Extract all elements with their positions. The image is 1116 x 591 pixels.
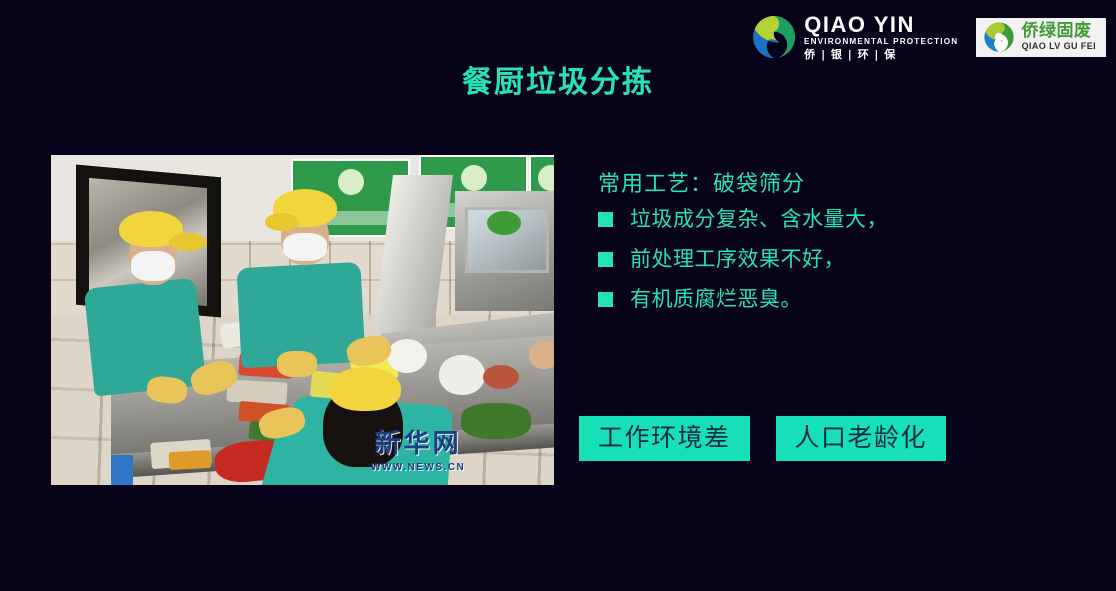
list-item-label: 垃圾成分复杂、含水量大，	[630, 208, 888, 231]
photo-waste-item	[169, 450, 212, 470]
list-item-label: 前处理工序效果不好，	[630, 248, 845, 271]
photo-worker-cap	[329, 367, 401, 411]
tag-aging-population: 人口老龄化	[776, 416, 947, 461]
tag-row: 工作环境差 人口老龄化	[579, 416, 946, 461]
photo-blue-frame	[111, 455, 133, 485]
photo-worker-cap-brim	[169, 233, 207, 251]
square-bullet-icon	[598, 252, 613, 267]
qiaoyin-name-en: QIAO YIN	[804, 14, 955, 36]
photo-worker-glove	[277, 351, 317, 377]
qiaoyin-swirl-icon	[752, 15, 796, 59]
tag-work-environment: 工作环境差	[579, 416, 750, 461]
list-item-label: 有机质腐烂恶臭。	[630, 288, 802, 311]
photo-waste-item	[387, 339, 427, 373]
photo-watermark: 新华网 WWW.NEWS.CN	[371, 423, 465, 473]
photo-worker-mask	[131, 251, 175, 281]
square-bullet-icon	[598, 212, 613, 227]
photo-worker-mask	[283, 233, 327, 261]
photo-waste-item	[461, 403, 531, 439]
qiaoyin-logo: QIAO YIN ENVIRONMENTAL PROTECTION 侨 | 银 …	[748, 12, 959, 62]
qiaolvgufei-name-cn: 侨绿固废	[1022, 23, 1096, 40]
photo-hopper-label	[487, 211, 521, 235]
qiaolvgufei-logo: 侨绿固废 QIAO LV GU FEI	[976, 18, 1106, 57]
photo-worker-cap-brim	[265, 213, 299, 231]
square-bullet-icon	[598, 292, 613, 307]
qiaoyin-tagline: ENVIRONMENTAL PROTECTION	[804, 38, 958, 46]
photo-waste-item	[439, 355, 485, 395]
photo-watermark-cn: 新华网	[371, 423, 465, 460]
logo-bar: QIAO YIN ENVIRONMENTAL PROTECTION 侨 | 银 …	[748, 12, 1106, 62]
slide: QIAO YIN ENVIRONMENTAL PROTECTION 侨 | 银 …	[0, 0, 1116, 591]
waste-sorting-photo: 新华网 WWW.NEWS.CN	[51, 155, 554, 485]
list-item: 垃圾成分复杂、含水量大，	[598, 208, 1078, 231]
list-item: 有机质腐烂恶臭。	[598, 288, 1078, 311]
bullet-list: 垃圾成分复杂、含水量大， 前处理工序效果不好， 有机质腐烂恶臭。	[598, 208, 1078, 328]
photo-worker	[84, 277, 207, 396]
photo-waste-item	[226, 379, 287, 404]
process-heading: 常用工艺：破袋筛分	[598, 166, 805, 198]
list-item: 前处理工序效果不好，	[598, 248, 1078, 271]
photo-watermark-en: WWW.NEWS.CN	[371, 462, 465, 473]
photo-hand	[529, 341, 554, 369]
page-title: 餐厨垃圾分拣	[0, 57, 1116, 101]
photo-waste-item	[483, 365, 519, 389]
qiaolvgufei-name-en: QIAO LV GU FEI	[1022, 42, 1096, 51]
qiaolvgufei-swirl-icon	[983, 21, 1015, 53]
